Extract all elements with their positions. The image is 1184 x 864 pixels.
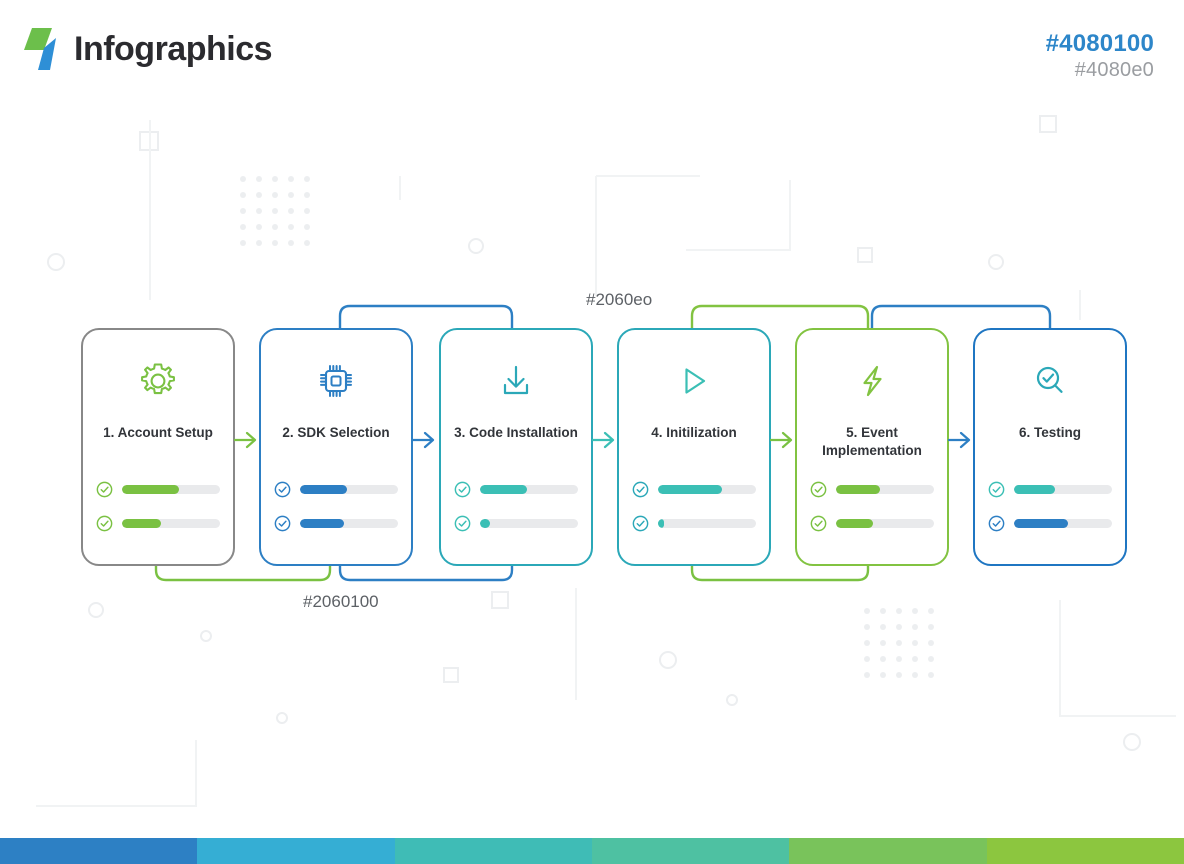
progress-track xyxy=(122,519,220,528)
step-card-1[interactable]: 1. Account Setup xyxy=(81,328,235,566)
progress-track xyxy=(836,519,934,528)
progress-row xyxy=(632,514,756,532)
check-circle-icon xyxy=(810,481,827,498)
check-circle-icon xyxy=(96,515,113,532)
check-circle-icon xyxy=(632,481,649,498)
step-card-3[interactable]: 3. Code Installation xyxy=(439,328,593,566)
progress-fill xyxy=(480,485,527,494)
progress-bars xyxy=(632,480,756,532)
progress-fill xyxy=(300,485,347,494)
bottom-bracket-label: #2060100 xyxy=(303,592,379,612)
flow-arrow-1 xyxy=(234,429,260,451)
progress-row xyxy=(810,480,934,498)
progress-fill xyxy=(122,485,179,494)
top-bracket-2 xyxy=(692,306,868,330)
progress-bars xyxy=(810,480,934,532)
progress-bars xyxy=(454,480,578,532)
progress-row xyxy=(810,514,934,532)
top-bracket-1 xyxy=(340,306,512,330)
strip-segment-4 xyxy=(592,838,789,864)
progress-fill xyxy=(658,485,722,494)
progress-fill xyxy=(1014,519,1068,528)
check-circle-icon xyxy=(988,481,1005,498)
progress-bars xyxy=(274,480,398,532)
download-icon xyxy=(493,356,539,406)
step-card-title: 4. Initilization xyxy=(624,424,764,442)
top-bracket-3 xyxy=(872,306,1050,330)
step-card-6[interactable]: 6. Testing xyxy=(973,328,1127,566)
progress-fill xyxy=(300,519,344,528)
progress-track xyxy=(480,485,578,494)
step-card-4[interactable]: 4. Initilization xyxy=(617,328,771,566)
progress-track xyxy=(1014,519,1112,528)
flow-arrow-4 xyxy=(770,429,796,451)
flow-arrow-5 xyxy=(948,429,974,451)
step-card-title: 1. Account Setup xyxy=(88,424,228,442)
progress-fill xyxy=(658,519,664,528)
progress-bars xyxy=(988,480,1112,532)
step-card-title: 5. Event Implementation xyxy=(802,424,942,460)
progress-row xyxy=(988,514,1112,532)
step-card-title: 6. Testing xyxy=(980,424,1120,442)
progress-row xyxy=(632,480,756,498)
progress-row xyxy=(96,480,220,498)
progress-track xyxy=(836,485,934,494)
step-card-5[interactable]: 5. Event Implementation xyxy=(795,328,949,566)
progress-track xyxy=(300,519,398,528)
step-card-2[interactable]: 2. SDK Selection xyxy=(259,328,413,566)
step-card-title: 2. SDK Selection xyxy=(266,424,406,442)
chip-icon xyxy=(313,356,359,406)
check-circle-icon xyxy=(988,515,1005,532)
progress-fill xyxy=(836,519,873,528)
progress-track xyxy=(1014,485,1112,494)
check-circle-icon xyxy=(810,515,827,532)
progress-fill xyxy=(122,519,161,528)
progress-fill xyxy=(836,485,880,494)
progress-track xyxy=(122,485,220,494)
flow-arrow-3 xyxy=(592,429,618,451)
progress-row xyxy=(454,480,578,498)
progress-row xyxy=(274,514,398,532)
strip-segment-1 xyxy=(0,838,197,864)
process-flow-diagram: #2060eo #2060100 1. Account Setup xyxy=(0,0,1184,864)
step-card-title: 3. Code Installation xyxy=(446,424,586,442)
check-circle-icon xyxy=(454,481,471,498)
progress-track xyxy=(658,519,756,528)
strip-segment-3 xyxy=(395,838,592,864)
strip-segment-6 xyxy=(987,838,1184,864)
strip-segment-2 xyxy=(197,838,394,864)
progress-row xyxy=(454,514,578,532)
check-circle-icon xyxy=(274,481,291,498)
strip-segment-5 xyxy=(789,838,986,864)
flow-arrow-2 xyxy=(412,429,438,451)
progress-row xyxy=(988,480,1112,498)
progress-row xyxy=(96,514,220,532)
search-check-icon xyxy=(1027,356,1073,406)
play-icon xyxy=(671,356,717,406)
bottom-color-strip xyxy=(0,838,1184,864)
bolt-icon xyxy=(849,356,895,406)
check-circle-icon xyxy=(632,515,649,532)
progress-row xyxy=(274,480,398,498)
progress-track xyxy=(300,485,398,494)
progress-fill xyxy=(1014,485,1055,494)
progress-fill xyxy=(480,519,490,528)
top-bracket-label: #2060eo xyxy=(586,290,652,310)
check-circle-icon xyxy=(96,481,113,498)
check-circle-icon xyxy=(454,515,471,532)
progress-track xyxy=(658,485,756,494)
progress-bars xyxy=(96,480,220,532)
gear-icon xyxy=(135,356,181,406)
progress-track xyxy=(480,519,578,528)
check-circle-icon xyxy=(274,515,291,532)
